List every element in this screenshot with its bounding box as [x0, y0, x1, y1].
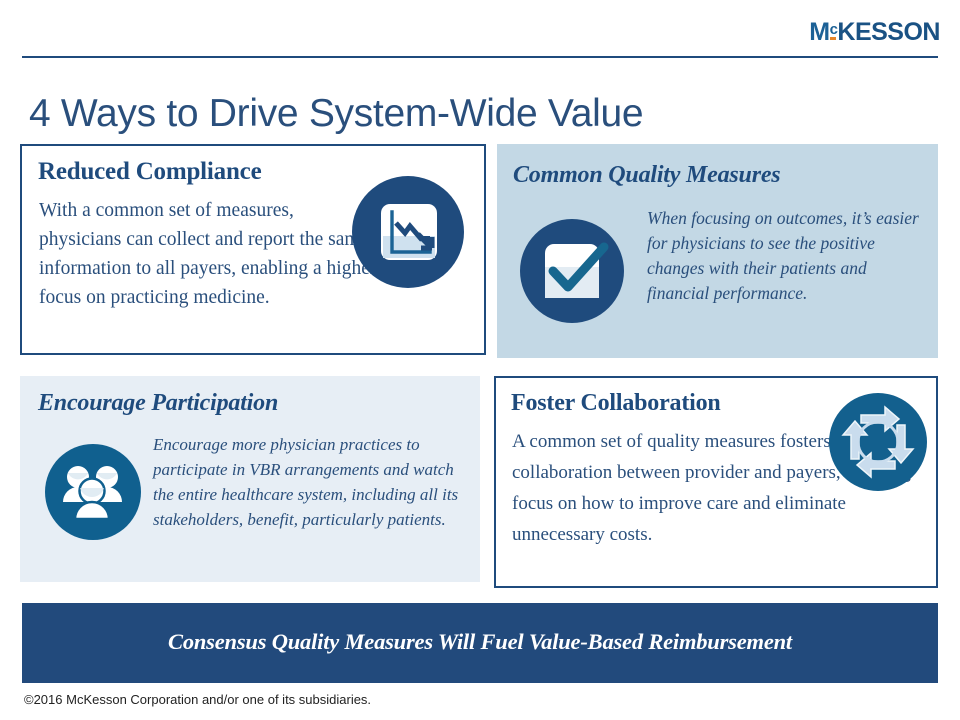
card-title-foster-collaboration: Foster Collaboration: [511, 390, 721, 417]
card-title-encourage-participation: Encourage Participation: [38, 390, 278, 417]
mckesson-logo: McKESSON: [806, 18, 940, 48]
summary-banner: Consensus Quality Measures Will Fuel Val…: [22, 603, 938, 683]
people-group-icon: [45, 444, 141, 540]
card-title-reduced-compliance: Reduced Compliance: [38, 158, 261, 186]
copyright-notice: ©2016 McKesson Corporation and/or one of…: [24, 692, 371, 707]
card-title-common-quality-measures: Common Quality Measures: [513, 162, 780, 189]
chart-declining-icon: [352, 176, 464, 288]
logo-text-m: M: [809, 18, 829, 47]
card-body-common-quality-measures: When focusing on outcomes, it’s easier f…: [647, 206, 927, 306]
card-body-encourage-participation: Encourage more physician practices to pa…: [153, 432, 473, 532]
logo-text-c: c: [830, 21, 838, 38]
card-body-reduced-compliance: With a common set of measures, physician…: [39, 196, 379, 312]
header-divider: [22, 56, 938, 58]
logo-text-kesson: KESSON: [837, 18, 940, 46]
page-title: 4 Ways to Drive System-Wide Value: [29, 92, 909, 136]
cycle-arrows-icon: [829, 393, 927, 491]
checkmark-icon: [520, 219, 624, 323]
summary-banner-text: Consensus Quality Measures Will Fuel Val…: [22, 629, 938, 655]
